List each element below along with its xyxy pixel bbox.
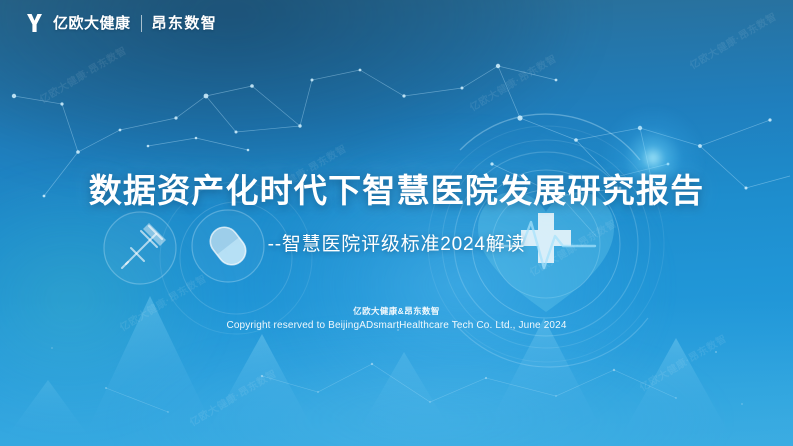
watermark-3: 亿欧大健康·昂东数智 (466, 50, 559, 114)
center-glow (250, 120, 670, 446)
bottom-glow (120, 330, 720, 446)
mountain-silhouette-layer (0, 0, 793, 446)
report-cover-slide: 亿欧大健康·昂东数智亿欧大健康·昂东数智亿欧大健康·昂东数智亿欧大健康·昂东数智… (0, 0, 793, 446)
brand-secondary-label: 昂东数智 (152, 16, 218, 31)
network-node-constellation (0, 0, 793, 446)
left-teal-glow (0, 175, 220, 425)
footer-authors: 亿欧大健康&昂东数智 (0, 305, 793, 317)
concentric-rings-decor (0, 0, 793, 446)
particle-dots (0, 0, 793, 446)
footer-copyright: Copyright reserved to BeijingADsmartHeal… (0, 320, 793, 331)
medical-icon-circles (0, 0, 793, 446)
logo-divider (141, 15, 142, 32)
yiou-y-mark-icon (26, 13, 43, 33)
watermark-7: 亿欧大健康·昂东数智 (186, 365, 279, 429)
watermark-6: 亿欧大健康·昂东数智 (686, 8, 779, 72)
page-title: 数据资产化时代下智慧医院发展研究报告 (0, 172, 793, 211)
brand-logo-bar[interactable]: 亿欧大健康 昂东数智 (26, 13, 217, 33)
watermark-5: 亿欧大健康·昂东数智 (636, 330, 729, 394)
brand-primary-label: 亿欧大健康 (53, 16, 131, 31)
page-subtitle: --智慧医院评级标准2024解读 (0, 229, 793, 256)
heart-medical-cross-icon (0, 0, 793, 446)
watermark-0: 亿欧大健康·昂东数智 (36, 42, 129, 106)
